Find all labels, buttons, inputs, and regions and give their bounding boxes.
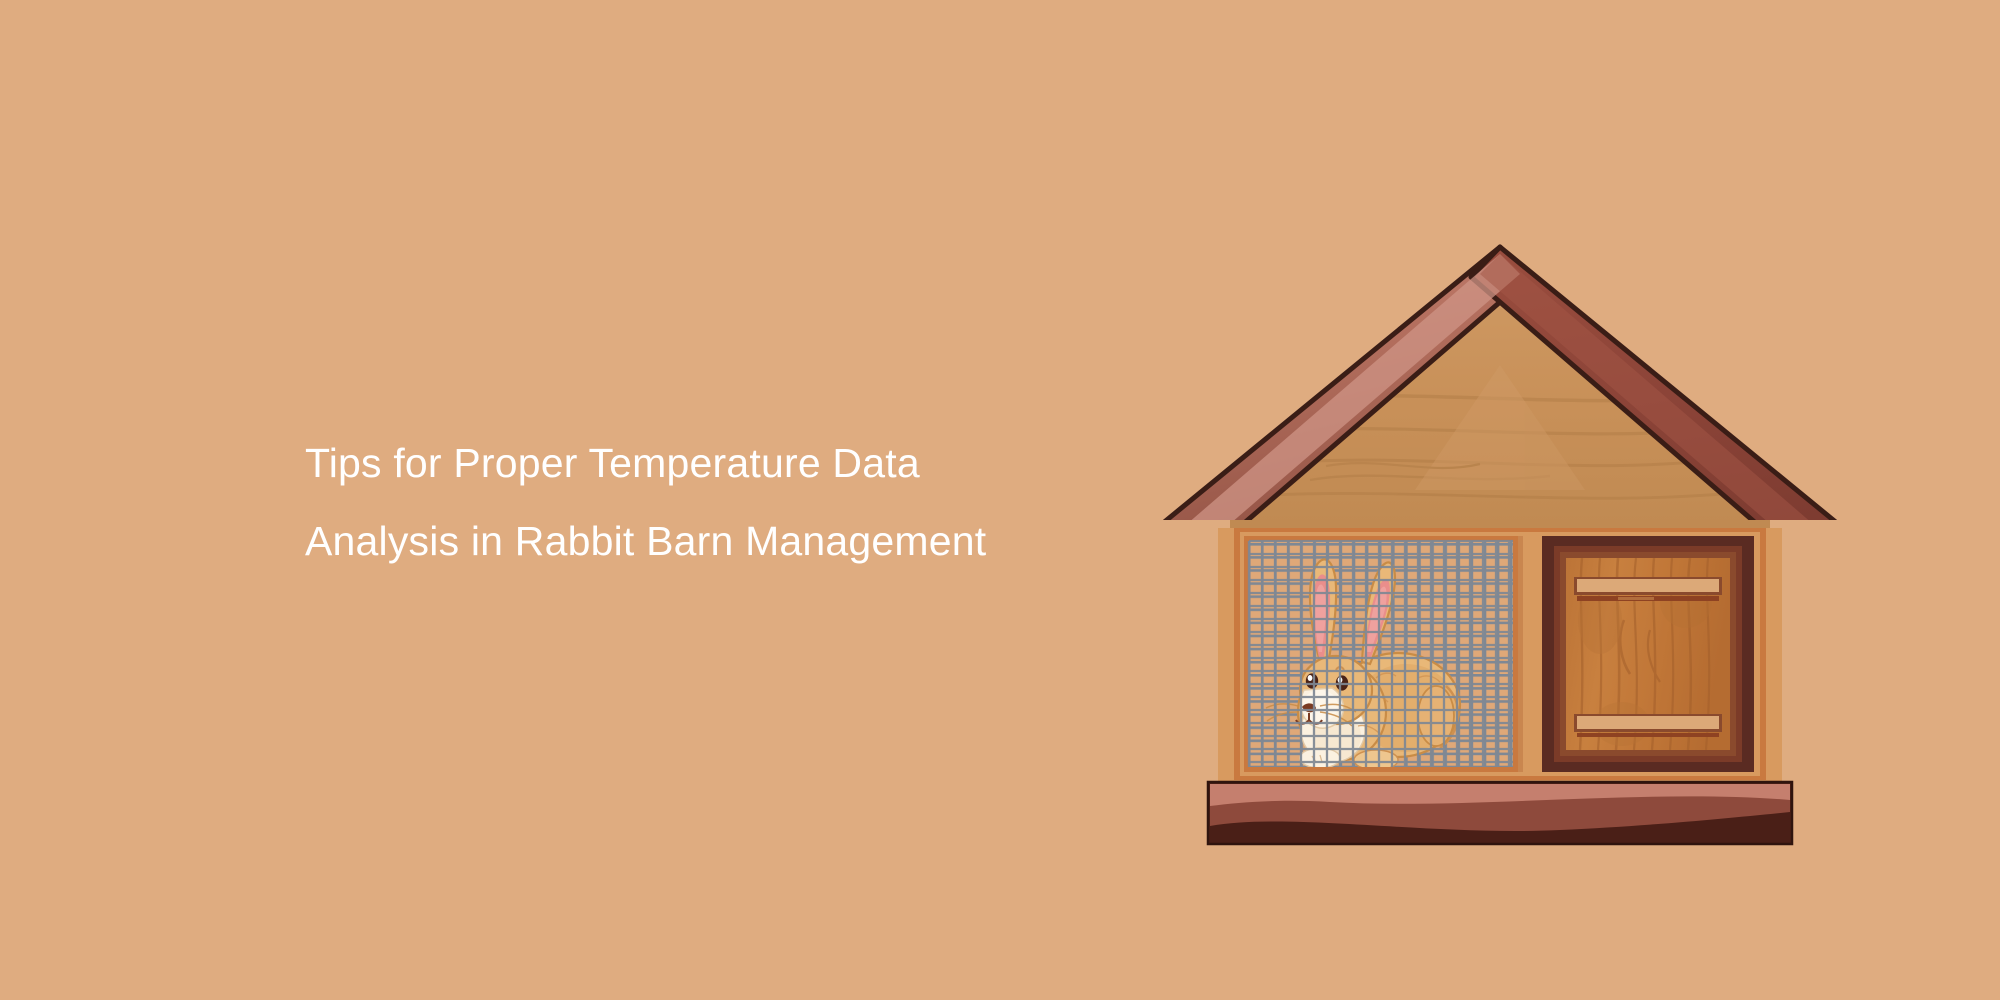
- rabbit-eye-left: [1306, 673, 1318, 688]
- page-title: Tips for Proper Temperature Data Analysi…: [305, 424, 1065, 580]
- headline-block: Tips for Proper Temperature Data Analysi…: [305, 424, 1065, 580]
- rabbit-hutch-illustration: [1130, 150, 1870, 850]
- article-banner: Tips for Proper Temperature Data Analysi…: [0, 0, 2000, 1000]
- base-plinth: [1208, 782, 1792, 844]
- door[interactable]: [1542, 536, 1754, 772]
- door-vent-top: [1574, 577, 1722, 601]
- hutch-render: [1130, 520, 1870, 850]
- door-vent-bottom: [1574, 714, 1722, 737]
